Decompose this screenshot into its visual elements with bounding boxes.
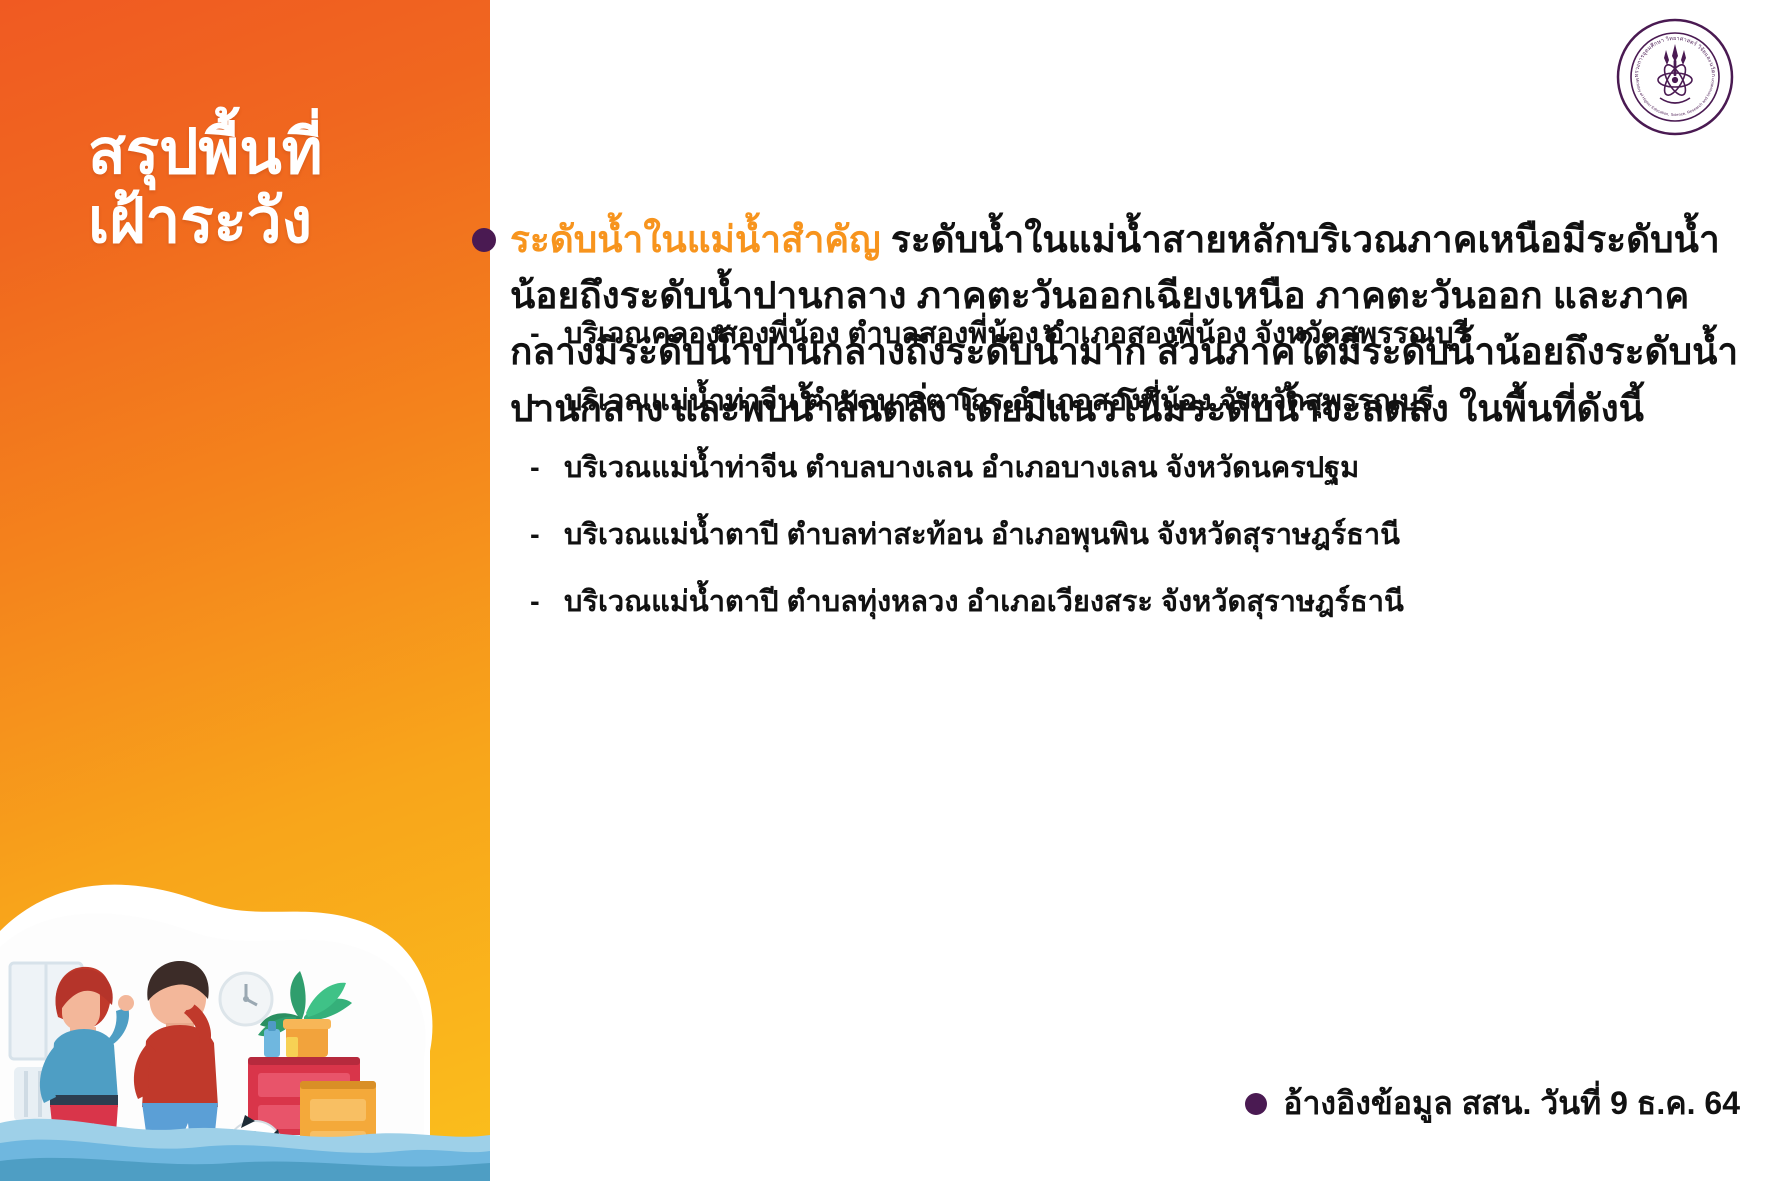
- list-item: - บริเวณคลองสองพี่น้อง ตำบลสองพี่น้อง อำ…: [530, 316, 1750, 353]
- flood-illustration: [0, 751, 490, 1181]
- list-item-label: บริเวณแม่น้ำตาปี ตำบลท่าสะท้อน อำเภอพุนพ…: [564, 517, 1750, 554]
- source-reference-label: อ้างอิงข้อมูล สสน. วันที่ 9 ธ.ค. 64: [1283, 1078, 1740, 1129]
- list-item: - บริเวณแม่น้ำท่าจีน ตำบลบางตาเถร อำเภอส…: [530, 383, 1750, 420]
- list-item-label: บริเวณคลองสองพี่น้อง ตำบลสองพี่น้อง อำเภ…: [564, 316, 1750, 353]
- list-item: - บริเวณแม่น้ำตาปี ตำบลท่าสะท้อน อำเภอพุ…: [530, 517, 1750, 554]
- affected-areas-list: - บริเวณคลองสองพี่น้อง ตำบลสองพี่น้อง อำ…: [530, 316, 1750, 652]
- list-item: - บริเวณแม่น้ำตาปี ตำบลทุ่งหลวง อำเภอเวี…: [530, 584, 1750, 621]
- list-item: - บริเวณแม่น้ำท่าจีน ตำบลบางเลน อำเภอบาง…: [530, 450, 1750, 487]
- slide-root: สรุปพื้นที่ เฝ้าระวัง: [0, 0, 1772, 1181]
- list-dash: -: [530, 517, 564, 554]
- page-title-line2: เฝ้าระวัง: [88, 187, 468, 256]
- footer-bullet-icon: [1245, 1093, 1267, 1115]
- list-dash: -: [530, 316, 564, 353]
- source-reference: อ้างอิงข้อมูล สสน. วันที่ 9 ธ.ค. 64: [1245, 1078, 1740, 1129]
- list-dash: -: [530, 450, 564, 487]
- page-title: สรุปพื้นที่ เฝ้าระวัง: [88, 118, 468, 257]
- list-dash: -: [530, 584, 564, 621]
- left-orange-panel: สรุปพื้นที่ เฝ้าระวัง: [0, 0, 490, 1181]
- list-item-label: บริเวณแม่น้ำตาปี ตำบลทุ่งหลวง อำเภอเวียง…: [564, 584, 1750, 621]
- list-dash: -: [530, 383, 564, 420]
- list-item-label: บริเวณแม่น้ำท่าจีน ตำบลบางตาเถร อำเภอสอง…: [564, 383, 1750, 420]
- content-area: ระดับน้ำในแม่น้ำสำคัญ ระดับน้ำในแม่น้ำสา…: [500, 0, 1772, 1181]
- list-item-label: บริเวณแม่น้ำท่าจีน ตำบลบางเลน อำเภอบางเล…: [564, 450, 1750, 487]
- lead-highlight: ระดับน้ำในแม่น้ำสำคัญ: [510, 219, 881, 260]
- page-title-line1: สรุปพื้นที่: [88, 118, 468, 187]
- lead-bullet-icon: [472, 228, 496, 252]
